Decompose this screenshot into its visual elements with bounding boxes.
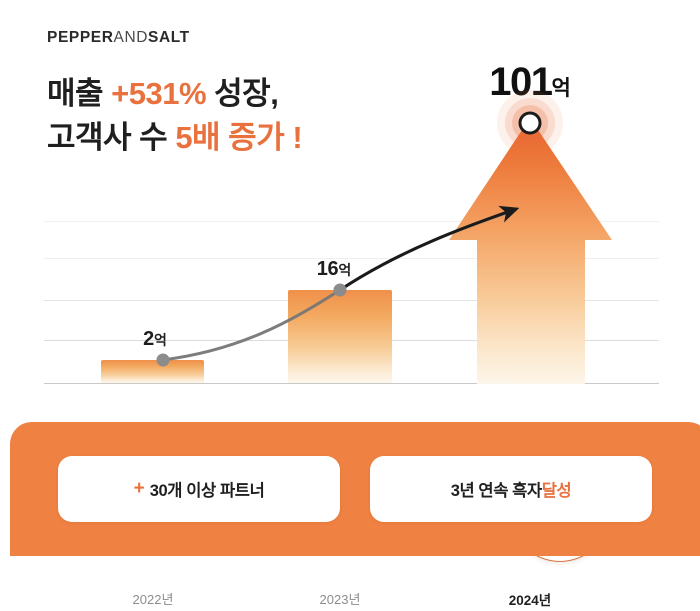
- infographic-page: PEPPERANDSALT 매출 +531% 성장, 고객사 수 5배 증가 !: [0, 0, 700, 556]
- value-2023-number: 16: [317, 258, 339, 280]
- chart-x-axis: 2022년 2023년 2024년: [0, 589, 700, 611]
- brand-logo: PEPPERANDSALT: [47, 29, 190, 47]
- value-2024-unit: 억: [551, 77, 570, 100]
- growth-chart: 2억 16억 2022년 2023년 2024년 +531%: [0, 200, 700, 415]
- value-2022-unit: 억: [154, 332, 167, 348]
- x-label-2022: 2022년: [133, 589, 174, 608]
- value-2022-number: 2: [143, 328, 154, 350]
- highlight-card-partners[interactable]: +30개 이상 파트너: [58, 456, 340, 522]
- highlight-card-partners-label: 30개 이상 파트너: [150, 477, 265, 501]
- highlight-cards: +30개 이상 파트너 3년 연속 흑자 달성: [10, 422, 700, 556]
- trend-curve: [0, 200, 700, 415]
- headline-line1-post: 성장,: [206, 76, 278, 111]
- headline-line1-pre: 매출: [47, 76, 111, 111]
- brand-name-part1: PEPPER: [47, 29, 114, 46]
- highlights-banner: +30개 이상 파트너 3년 연속 흑자 달성: [10, 422, 700, 556]
- headline-line1-accent: +531%: [111, 76, 206, 111]
- data-point-2022: [157, 354, 170, 367]
- apex-marker-icon: [519, 112, 542, 135]
- value-label-2022: 2억: [143, 328, 167, 351]
- headline-line-2: 고객사 수 5배 증가 !: [47, 116, 302, 160]
- highlight-card-profit-label: 3년 연속 흑자: [451, 477, 542, 501]
- data-point-2023: [334, 284, 347, 297]
- value-label-2023: 16억: [317, 258, 352, 281]
- plus-icon: +: [134, 478, 145, 500]
- headline-line2-accent: 5배 증가 !: [175, 120, 302, 155]
- highlight-card-profit-accent: 달성: [542, 477, 572, 501]
- brand-name-part2: AND: [114, 29, 149, 46]
- headline-line2-pre: 고객사 수: [47, 120, 175, 155]
- headline: 매출 +531% 성장, 고객사 수 5배 증가 !: [47, 72, 302, 160]
- x-label-2024: 2024년: [509, 589, 551, 609]
- x-label-2023: 2023년: [320, 589, 361, 608]
- highlight-card-profit[interactable]: 3년 연속 흑자 달성: [370, 456, 652, 522]
- value-2023-unit: 억: [338, 262, 351, 278]
- brand-name-part3: SALT: [148, 29, 190, 46]
- headline-line-1: 매출 +531% 성장,: [47, 72, 302, 116]
